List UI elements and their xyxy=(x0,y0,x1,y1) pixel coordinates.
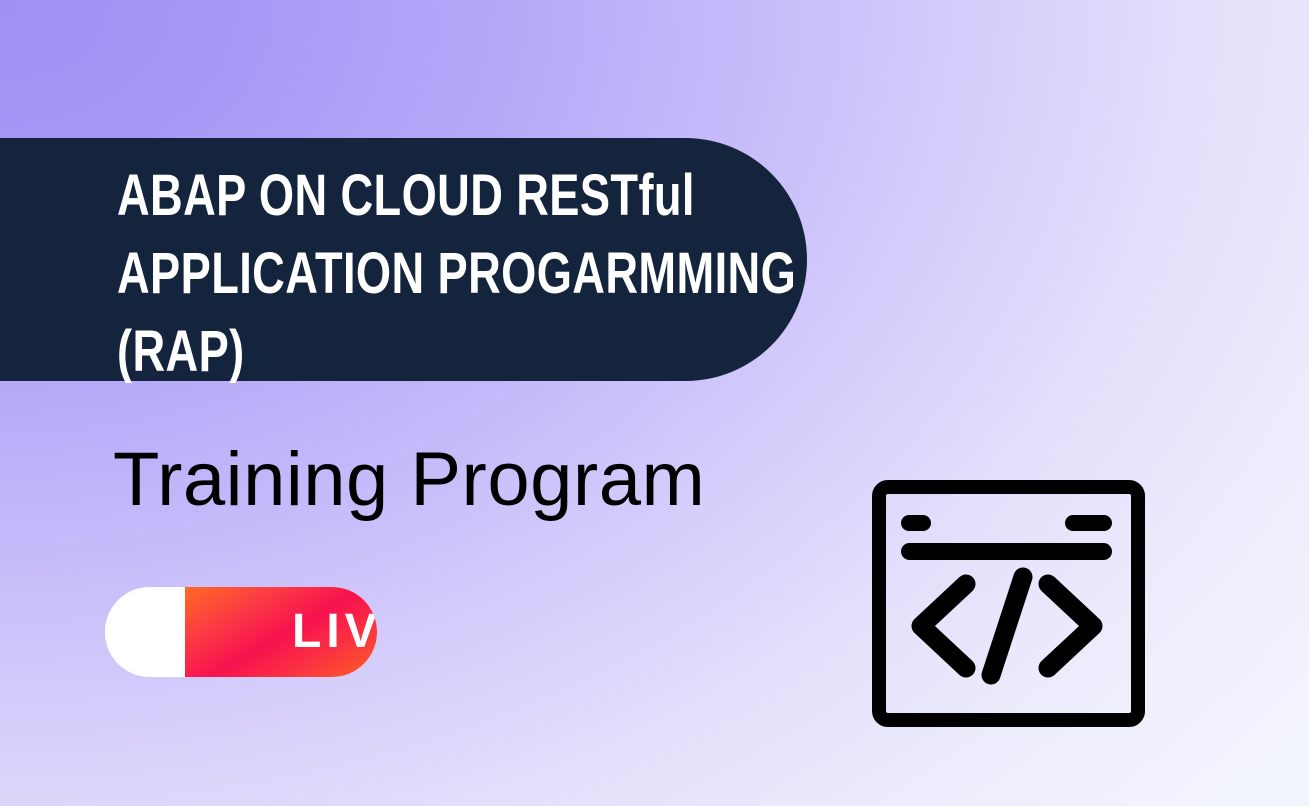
live-badge: LIVE xyxy=(105,587,377,677)
title-line-2: APPLICATION PROGARMMING xyxy=(117,235,632,313)
page-title: ABAP ON CLOUD RESTful APPLICATION PROGAR… xyxy=(117,157,777,391)
title-line-3: (RAP) xyxy=(117,313,632,391)
live-badge-left-panel xyxy=(105,587,185,677)
subtitle: Training Program xyxy=(113,434,705,526)
live-badge-right-panel: LIVE xyxy=(185,587,377,677)
poster-canvas: ABAP ON CLOUD RESTful APPLICATION PROGAR… xyxy=(0,0,1309,806)
code-window-icon xyxy=(872,480,1145,727)
live-badge-label: LIVE xyxy=(292,587,377,677)
title-line-1: ABAP ON CLOUD RESTful xyxy=(117,157,632,235)
